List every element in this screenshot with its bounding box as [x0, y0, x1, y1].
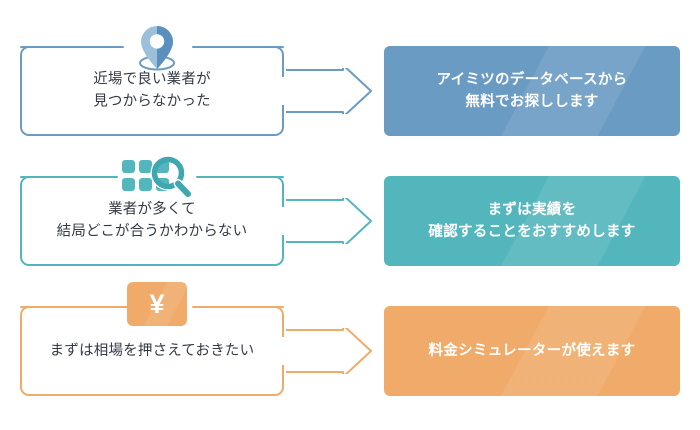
map-pin-icon: [122, 22, 192, 74]
diagram-row-location: 近場で良い業者が 見つからなかった アイミツのデータベースから 無料でお探ししま…: [0, 22, 700, 137]
card-corner-top-left: [20, 306, 38, 324]
problem-label: 業者が多くて 結局どこが合うかわからない: [20, 199, 284, 244]
card-border-top-left: [20, 176, 118, 178]
card-border-bottom: [29, 394, 275, 396]
solution-box: 料金シミュレーターが使えます: [384, 306, 680, 396]
solution-box: まずは実績を 確認することをおすすめします: [384, 176, 680, 266]
card-border-top-right: [192, 46, 284, 48]
card-border-bottom: [29, 264, 275, 266]
grid-search-icon: [118, 152, 198, 204]
problem-solution-diagram: 近場で良い業者が 見つからなかった アイミツのデータベースから 無料でお探ししま…: [0, 0, 700, 430]
flow-arrow: [286, 328, 372, 374]
flow-arrow: [286, 198, 372, 244]
solution-label: まずは実績を 確認することをおすすめします: [384, 176, 680, 266]
yen-badge: ¥: [127, 282, 187, 326]
yen-symbol: ¥: [149, 291, 164, 318]
diagram-row-price-range: まずは相場を押さえておきたい ¥ 料金シミュレーターが使えます: [0, 282, 700, 397]
card-border-right-bottom: [282, 365, 284, 387]
solution-label: アイミツのデータベースから 無料でお探しします: [384, 46, 680, 136]
problem-label: 近場で良い業者が 見つからなかった: [20, 69, 284, 114]
card-border-top-left: [20, 306, 128, 308]
card-border-bottom: [29, 134, 275, 136]
problem-label: まずは相場を押さえておきたい: [20, 340, 284, 362]
card-border-top-left: [20, 46, 124, 48]
card-corner-top-left: [20, 46, 38, 64]
diagram-row-too-many-vendors: 業者が多くて 結局どこが合うかわからない: [0, 152, 700, 267]
solution-box: アイミツのデータベースから 無料でお探しします: [384, 46, 680, 136]
card-border-right-top: [282, 315, 284, 337]
yen-badge-icon: ¥: [122, 278, 192, 330]
solution-label: 料金シミュレーターが使えます: [384, 306, 680, 396]
card-corner-top-left: [20, 176, 38, 194]
flow-arrow: [286, 68, 372, 114]
card-border-top-right: [192, 306, 284, 308]
card-border-top-right: [196, 176, 284, 178]
